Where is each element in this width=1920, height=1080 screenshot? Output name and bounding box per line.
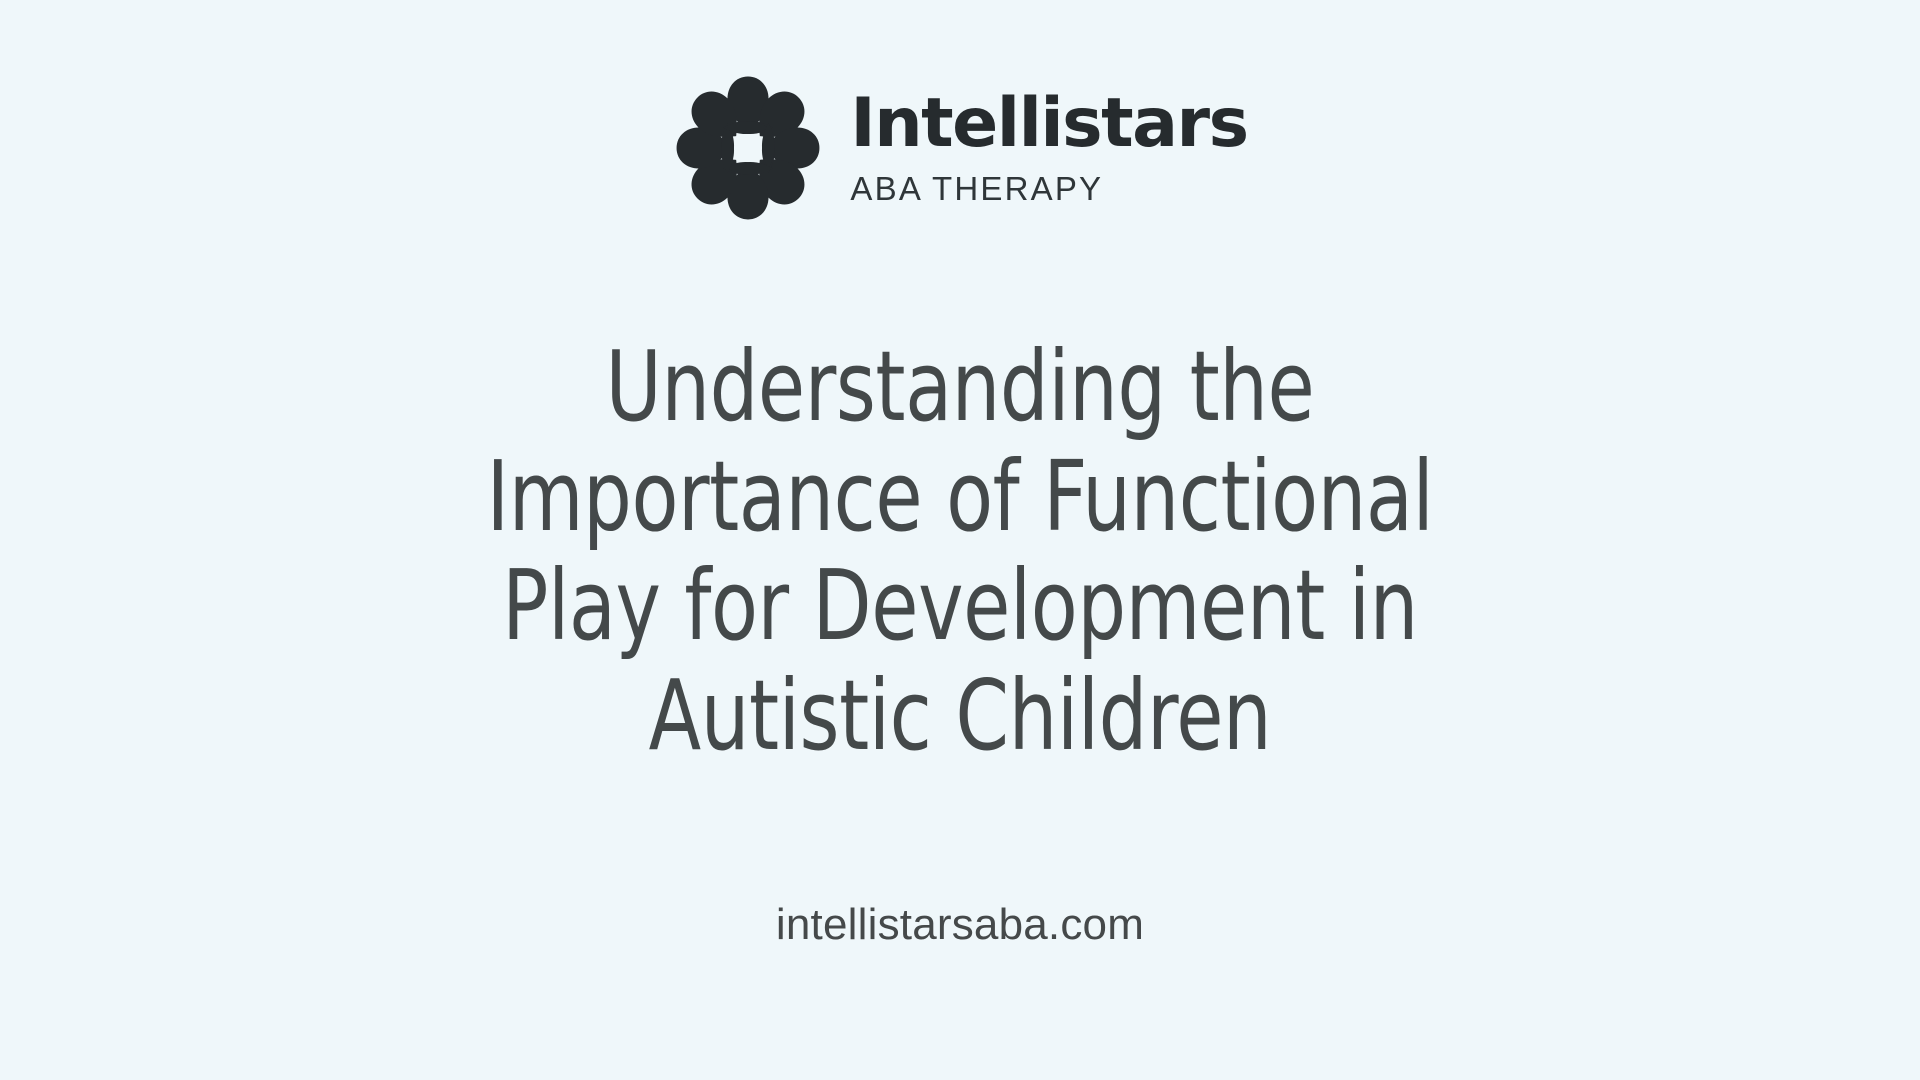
brand-name: Intellistars [850, 90, 1247, 158]
headline-block: Understanding the Importance of Function… [330, 332, 1590, 770]
site-url: intellistarsaba.com [0, 900, 1920, 950]
eight-point-star-flower-icon [672, 72, 824, 224]
brand-lockup: Intellistars ABA THERAPY [672, 72, 1247, 224]
page-title: Understanding the Importance of Function… [487, 332, 1434, 770]
slide-canvas: Intellistars ABA THERAPY Understanding t… [0, 0, 1920, 1080]
brand-text-block: Intellistars ABA THERAPY [850, 88, 1247, 208]
brand-tagline: ABA THERAPY [850, 170, 1103, 208]
